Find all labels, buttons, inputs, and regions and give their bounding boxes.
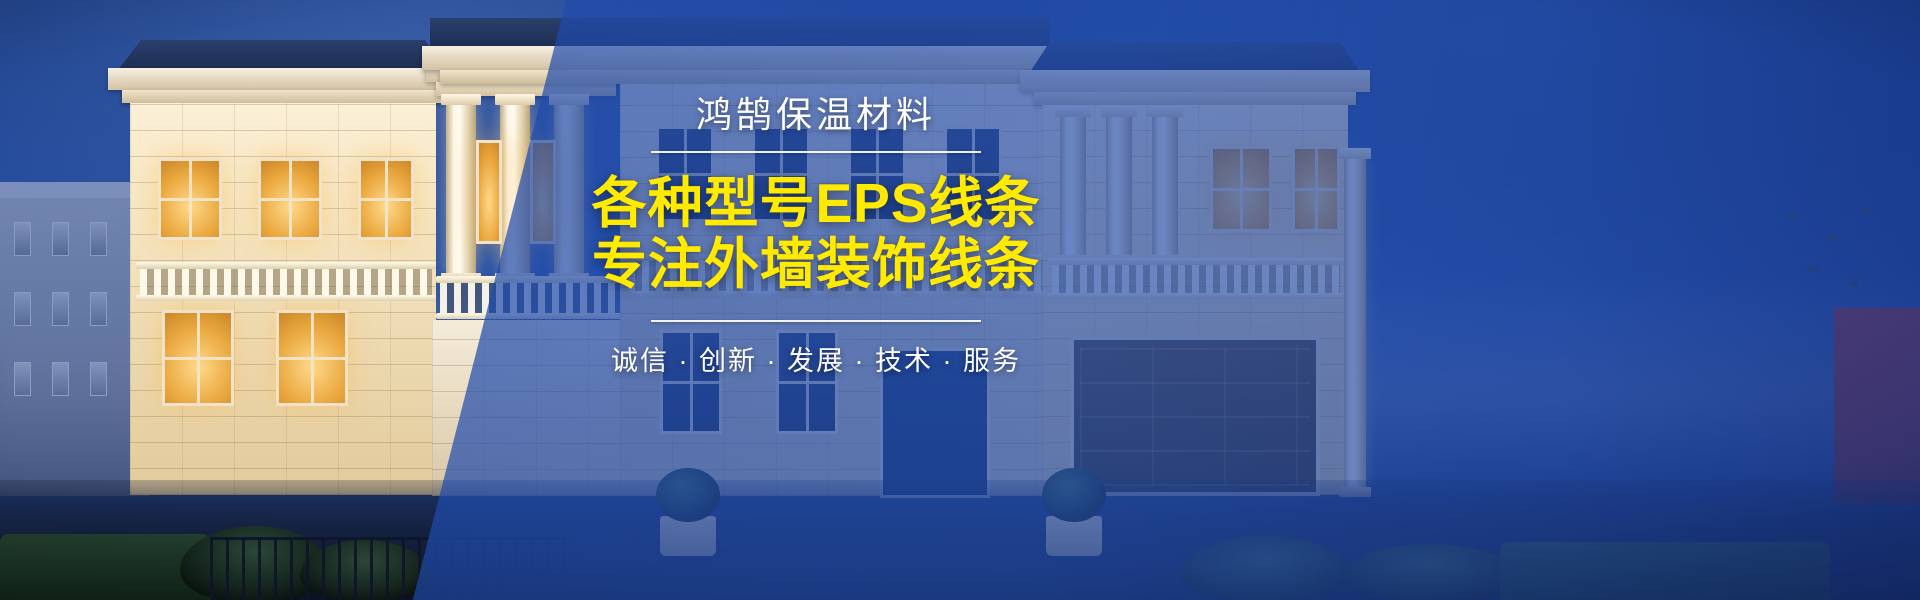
red-structure (1834, 308, 1920, 504)
garage-door (1070, 336, 1320, 496)
tree-branch (1770, 190, 1890, 310)
fence-rail (210, 537, 570, 540)
hedge-left (0, 534, 210, 600)
fence (210, 538, 570, 600)
divider-rule-top (651, 151, 981, 153)
headline-line-1: 各种型号EPS线条 (556, 173, 1076, 234)
banner-copy-inner: 鸿鹄保温材料 各种型号EPS线条 专注外墙装饰线条 诚信 · 创新 · 发展 ·… (556, 92, 1076, 379)
topiary-right (1042, 468, 1106, 522)
planter-right (1046, 516, 1102, 556)
hedge-right (1500, 542, 1830, 600)
tagline: 诚信 · 创新 · 发展 · 技术 · 服务 (556, 344, 1076, 379)
headline-line-2: 专注外墙装饰线条 (556, 234, 1076, 295)
banner-stage: 鸿鹄保温材料 各种型号EPS线条 专注外墙装饰线条 诚信 · 创新 · 发展 ·… (0, 0, 1920, 600)
divider-rule-bottom (651, 320, 981, 322)
headline-block: 各种型号EPS线条 专注外墙装饰线条 (556, 173, 1076, 294)
brand-name: 鸿鹄保温材料 (556, 92, 1076, 137)
topiary-left (656, 468, 720, 522)
planter-left (660, 516, 716, 556)
